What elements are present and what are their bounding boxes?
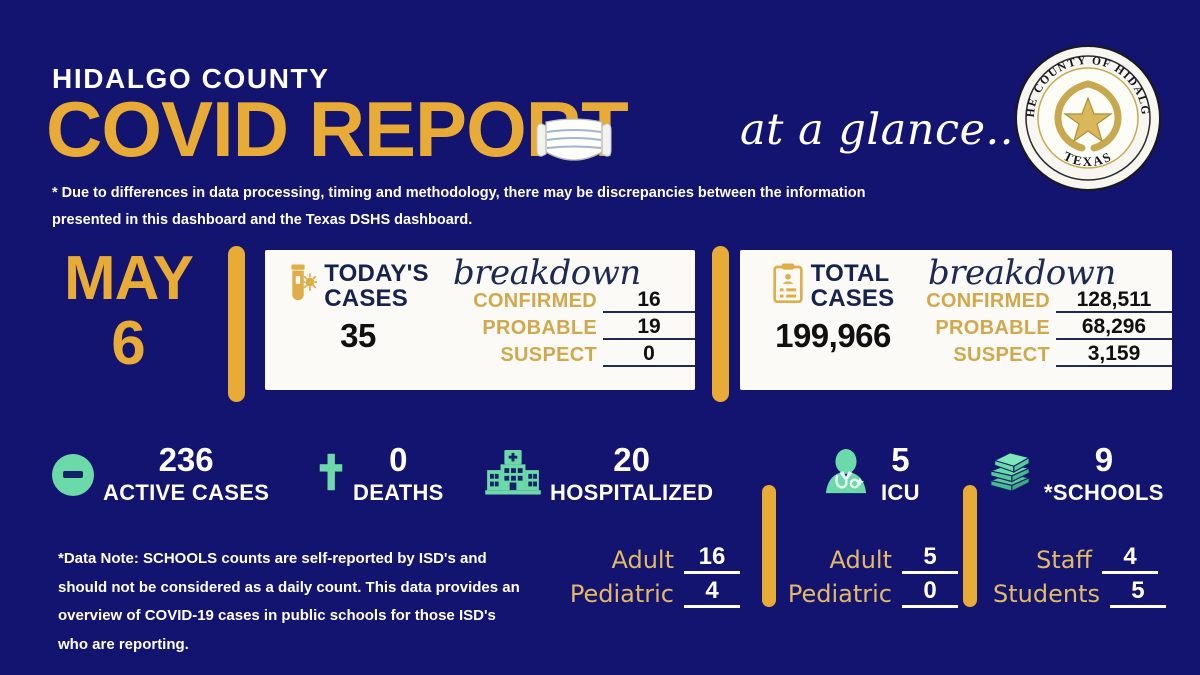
schools-students-box: 5 — [1110, 577, 1166, 608]
breakdown-label-confirmed: CONFIRMED — [473, 290, 597, 313]
report-date: MAY 6 — [46, 250, 211, 372]
breakdown-row: CONFIRMED 16 — [451, 286, 695, 313]
at-a-glance-script: at a glance.. — [740, 105, 1014, 155]
data-note-text: *Data Note: SCHOOLS counts are self-repo… — [58, 545, 528, 659]
todays-cases-label-line2: CASES — [324, 285, 408, 312]
sub-row: Staff 4 — [993, 540, 1158, 574]
minus-circle-icon — [52, 454, 94, 496]
total-cases-breakdown: breakdown CONFIRMED 128,511 PROBABLE 68,… — [926, 250, 1172, 367]
sub-row: Pediatric 4 — [560, 574, 740, 608]
hospitalized-adult-value: 16 — [699, 543, 726, 570]
breakdown-label-suspect: SUSPECT — [500, 344, 597, 367]
active-cases-value: 236 — [159, 443, 214, 476]
icu-adult-box: 5 — [902, 543, 958, 574]
total-cases-card: TOTAL CASES 199,966 breakdown CONFIRMED … — [740, 250, 1172, 390]
county-seal-icon: THE COUNTY OF HIDALGO TEXAS — [1014, 44, 1162, 192]
hospitalized-value: 20 — [613, 443, 650, 476]
breakdown-value-probable-box: 19 — [603, 315, 695, 340]
todays-cases-breakdown: breakdown CONFIRMED 16 PROBABLE 19 SUSPE… — [451, 250, 695, 367]
books-icon — [985, 449, 1035, 500]
divider-bar-icu — [762, 485, 776, 607]
total-cases-label-line2: CASES — [811, 285, 895, 312]
total-cases-label-line1: TOTAL — [811, 260, 890, 287]
total-breakdown-label-probable: PROBABLE — [935, 317, 1050, 340]
total-breakdown-value-suspect-box: 3,159 — [1056, 342, 1172, 367]
hospitalized-pediatric-value: 4 — [705, 577, 718, 604]
schools-value: 9 — [1095, 443, 1113, 476]
report-date-day: 6 — [46, 315, 211, 372]
hospitalized-pediatric-box: 4 — [684, 577, 740, 608]
schools-students-label: Students — [993, 580, 1100, 608]
face-mask-icon — [534, 108, 614, 172]
breakdown-value-confirmed: 16 — [603, 288, 695, 311]
breakdown-row: PROBABLE 19 — [451, 313, 695, 340]
breakdown-row: CONFIRMED 128,511 — [926, 286, 1172, 313]
icu-adult-value: 5 — [923, 543, 936, 570]
divider-bar-middle — [712, 246, 729, 402]
schools-label: *SCHOOLS — [1044, 480, 1164, 506]
total-breakdown-value-probable-box: 68,296 — [1056, 315, 1172, 340]
breakdown-label-probable: PROBABLE — [482, 317, 597, 340]
icu-breakdown: Adult 5 Pediatric 0 — [778, 540, 958, 608]
breakdown-row: SUSPECT 0 — [451, 340, 695, 367]
breakdown-script-label: breakdown — [453, 256, 695, 290]
total-breakdown-label-suspect: SUSPECT — [953, 344, 1050, 367]
icu-adult-label: Adult — [778, 546, 892, 574]
test-tube-icon — [287, 262, 317, 309]
deaths-value: 0 — [389, 443, 407, 476]
sub-row: Pediatric 0 — [778, 574, 958, 608]
todays-cases-card: TODAY'S CASES 35 breakdown CONFIRMED 16 … — [265, 250, 695, 390]
todays-cases-label-line1: TODAY'S — [324, 260, 428, 287]
hospitalized-label: HOSPITALIZED — [550, 480, 713, 506]
icu-label: ICU — [881, 480, 920, 506]
schools-students-value: 5 — [1131, 577, 1144, 604]
stat-hospitalized: 20 HOSPITALIZED — [485, 443, 713, 506]
breakdown-value-suspect: 0 — [603, 342, 695, 365]
schools-staff-box: 4 — [1102, 543, 1158, 574]
schools-breakdown: Staff 4 Students 5 — [993, 540, 1158, 608]
report-date-month: MAY — [46, 250, 211, 307]
total-breakdown-label-confirmed: CONFIRMED — [926, 290, 1050, 313]
todays-cases-label: TODAY'S CASES — [324, 262, 428, 311]
breakdown-row: PROBABLE 68,296 — [926, 313, 1172, 340]
icu-pediatric-box: 0 — [902, 577, 958, 608]
todays-cases-summary: TODAY'S CASES 35 — [265, 250, 451, 355]
schools-staff-label: Staff — [993, 546, 1092, 574]
total-cases-label: TOTAL CASES — [811, 262, 895, 311]
sub-row: Adult 5 — [778, 540, 958, 574]
icu-pediatric-label: Pediatric — [778, 580, 892, 608]
breakdown-value-confirmed-box: 16 — [603, 288, 695, 313]
hospital-icon — [485, 449, 541, 500]
hospitalized-pediatric-label: Pediatric — [560, 580, 674, 608]
sub-row: Students 5 — [993, 574, 1158, 608]
breakdown-row: SUSPECT 3,159 — [926, 340, 1172, 367]
total-cases-total: 199,966 — [775, 317, 891, 355]
divider-bar-left — [228, 246, 245, 402]
schools-staff-value: 4 — [1123, 543, 1136, 570]
sub-row: Adult 16 — [560, 540, 740, 574]
hospitalized-breakdown: Adult 16 Pediatric 4 — [560, 540, 740, 608]
todays-cases-total: 35 — [340, 317, 376, 355]
breakdown-value-probable: 19 — [603, 315, 695, 338]
covid-report-infographic: HIDALGO COUNTY COVID REPORT at a glance.… — [0, 0, 1200, 675]
breakdown-value-suspect-box: 0 — [603, 342, 695, 367]
active-cases-label: ACTIVE CASES — [103, 480, 269, 506]
stat-active-cases: 236 ACTIVE CASES — [52, 443, 269, 506]
disclaimer-text: * Due to differences in data processing,… — [52, 180, 932, 234]
stat-icu: 5 ICU — [820, 443, 920, 506]
icu-pediatric-value: 0 — [923, 577, 936, 604]
total-breakdown-value-probable: 68,296 — [1056, 315, 1172, 338]
hospitalized-adult-box: 16 — [684, 543, 740, 574]
stat-schools: 9 *SCHOOLS — [985, 443, 1164, 506]
doctor-icon — [820, 449, 872, 500]
stat-deaths: 0 DEATHS — [318, 443, 444, 506]
deaths-label: DEATHS — [353, 480, 444, 506]
hospitalized-adult-label: Adult — [560, 546, 674, 574]
breakdown-script-label: breakdown — [928, 256, 1172, 290]
clipboard-icon — [772, 262, 804, 309]
total-breakdown-value-confirmed: 128,511 — [1056, 288, 1172, 311]
icu-value: 5 — [891, 443, 909, 476]
total-breakdown-value-confirmed-box: 128,511 — [1056, 288, 1172, 313]
total-breakdown-value-suspect: 3,159 — [1056, 342, 1172, 365]
divider-bar-schools — [963, 485, 977, 607]
cross-icon — [318, 450, 344, 499]
total-cases-summary: TOTAL CASES 199,966 — [740, 250, 926, 355]
